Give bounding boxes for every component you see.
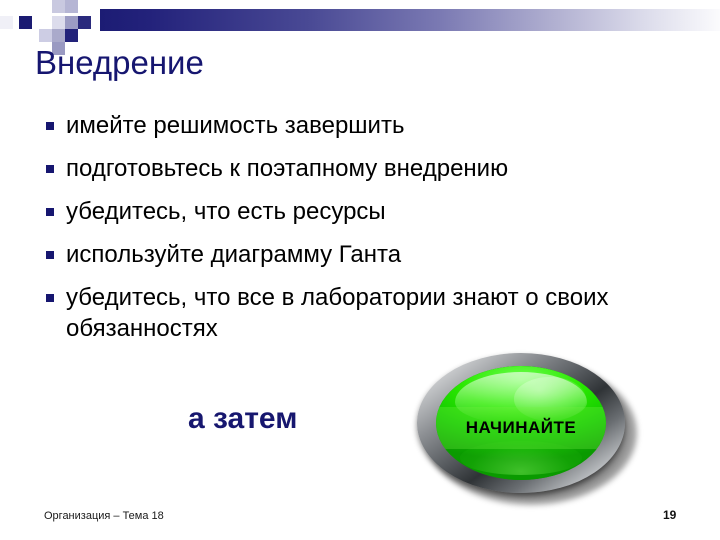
start-button[interactable]: НАЧИНАЙТЕ	[411, 347, 643, 509]
square-mid-4	[65, 16, 78, 29]
header-gradient-band	[100, 9, 720, 31]
bullet-item: используйте диаграмму Ганта	[46, 239, 686, 270]
start-button-label-band: НАЧИНАЙТЕ	[436, 407, 606, 449]
square-mid-6	[52, 29, 65, 42]
square-dark-2	[78, 16, 91, 29]
bullet-item: имейте решимость завершить	[46, 110, 686, 141]
bullet-item: подготовьтесь к поэтапному внедрению	[46, 153, 686, 184]
bullet-item: убедитесь, что все в лаборатории знают о…	[46, 282, 686, 344]
bullet-item: убедитесь, что есть ресурсы	[46, 196, 686, 227]
square-mid-2	[65, 0, 78, 13]
bullet-item-label: подготовьтесь к поэтапному внедрению	[66, 153, 686, 184]
start-button-inner: НАЧИНАЙТЕ	[436, 366, 606, 480]
bullet-square-icon	[46, 251, 54, 259]
slide-canvas: Внедрение имейте решимость завершитьподг…	[0, 0, 720, 540]
bullet-item-label: используйте диаграмму Ганта	[66, 239, 686, 270]
start-button-metal-ring: НАЧИНАЙТЕ	[417, 353, 625, 493]
bullet-item-label: убедитесь, что все в лаборатории знают о…	[66, 282, 686, 344]
square-dark-1	[19, 16, 32, 29]
page-title: Внедрение	[35, 44, 204, 82]
bullet-square-icon	[46, 122, 54, 130]
square-dark-3	[65, 29, 78, 42]
bullet-square-icon	[46, 208, 54, 216]
bullet-square-icon	[46, 165, 54, 173]
bullet-item-label: имейте решимость завершить	[66, 110, 686, 141]
bullet-square-icon	[46, 294, 54, 302]
callout-text: а затем	[188, 402, 297, 436]
square-mid-3	[52, 16, 65, 29]
square-mid-5	[39, 29, 52, 42]
start-button-label: НАЧИНАЙТЕ	[466, 418, 576, 438]
square-light-1	[0, 16, 13, 29]
bullet-item-label: убедитесь, что есть ресурсы	[66, 196, 686, 227]
footer-source-text: Организация – Тема 18	[44, 510, 164, 522]
square-mid-1	[52, 0, 65, 13]
bullet-list: имейте решимость завершитьподготовьтесь …	[46, 110, 686, 356]
slide-number: 19	[663, 508, 676, 522]
